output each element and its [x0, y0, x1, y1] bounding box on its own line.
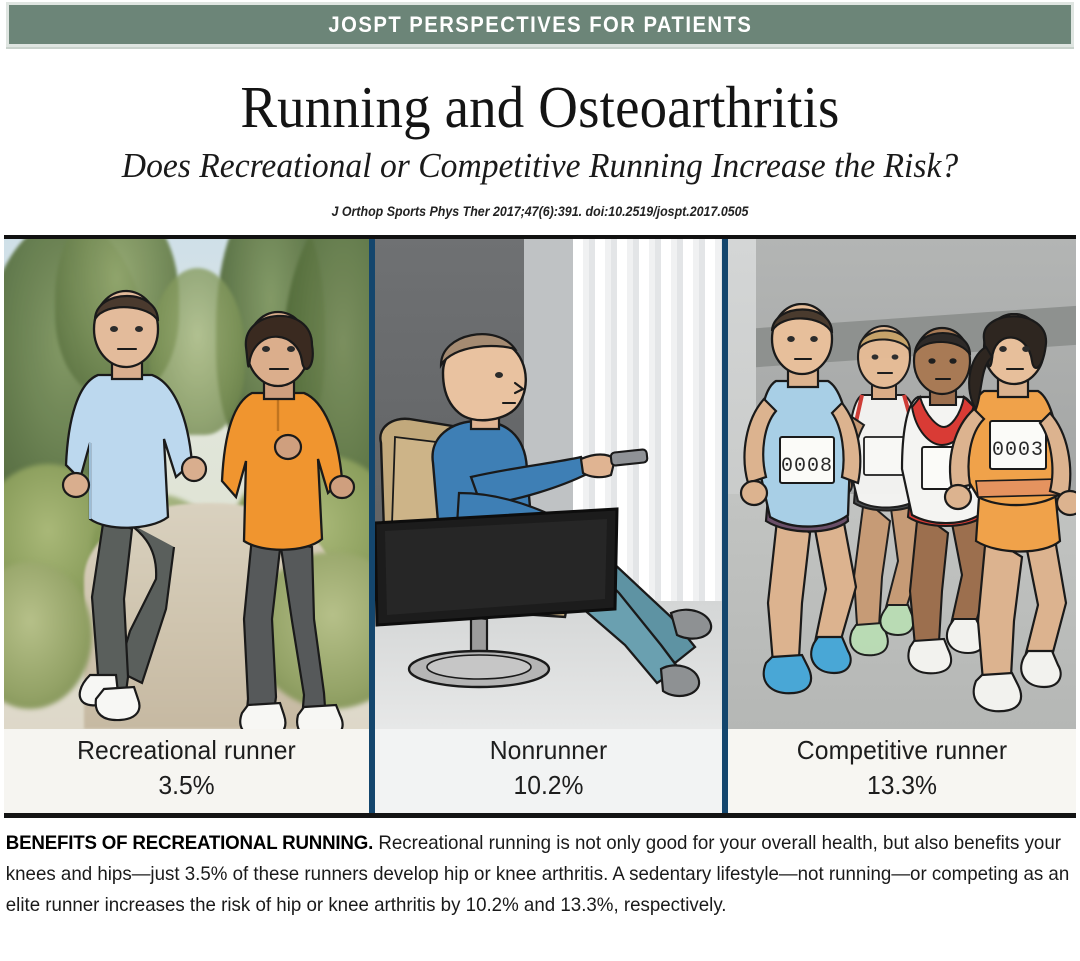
panel-art-competitive: 0008: [728, 239, 1076, 729]
page-title: Running and Osteoarthritis: [38, 76, 1042, 138]
header-banner: JOSPT PERSPECTIVES FOR PATIENTS: [6, 2, 1074, 47]
bib-number-0003: 0003: [992, 439, 1044, 462]
figure-three-panel: Recreational runner 3.5%: [4, 235, 1076, 818]
city-race-scene: 0008: [728, 239, 1076, 729]
panel-value: 13.3%: [737, 770, 1068, 801]
panel-nonrunner: Nonrunner 10.2%: [369, 239, 728, 813]
header-banner-container: JOSPT PERSPECTIVES FOR PATIENTS: [0, 0, 1080, 52]
page-subtitle: Does Recreational or Competitive Running…: [22, 144, 1059, 188]
header-banner-label: JOSPT PERSPECTIVES FOR PATIENTS: [328, 12, 752, 38]
panel-caption-nonrunner: Nonrunner 10.2%: [375, 729, 722, 813]
living-room-scene: [375, 239, 722, 729]
figure-caption: BENEFITS OF RECREATIONAL RUNNING. Recrea…: [0, 818, 1080, 921]
television: [375, 505, 623, 645]
panel-caption-competitive: Competitive runner 13.3%: [728, 729, 1076, 813]
panel-art-recreational: [4, 239, 369, 729]
panel-value: 3.5%: [13, 770, 360, 801]
panel-label: Competitive runner: [737, 735, 1068, 766]
forest-trail-scene: [4, 239, 369, 729]
panel-label: Recreational runner: [13, 735, 360, 766]
panel-label: Nonrunner: [384, 735, 714, 766]
runner-blue-singlet: 0008: [732, 303, 882, 723]
panel-recreational-runner: Recreational runner 3.5%: [4, 239, 369, 813]
panel-competitive-runner: 0008: [728, 239, 1076, 813]
caption-heading: BENEFITS OF RECREATIONAL RUNNING.: [6, 832, 373, 854]
female-recreational-runner: [200, 301, 369, 729]
panel-art-nonrunner: [375, 239, 722, 729]
panel-caption-recreational: Recreational runner 3.5%: [4, 729, 369, 813]
bib-number-0008: 0008: [781, 455, 833, 478]
panel-value: 10.2%: [384, 770, 714, 801]
citation-line: J Orthop Sports Phys Ther 2017;47(6):391…: [43, 204, 1037, 219]
runner-orange-kit: 0003: [938, 313, 1076, 729]
title-block: Running and Osteoarthritis Does Recreati…: [0, 52, 1080, 219]
